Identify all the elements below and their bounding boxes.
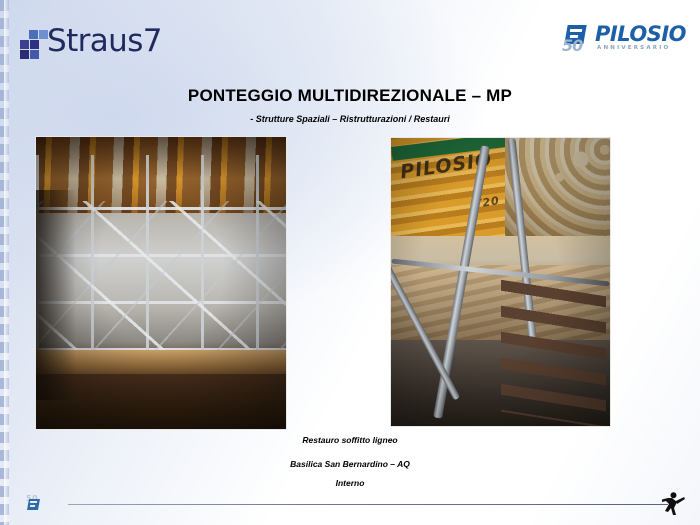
caption-line-3: Interno <box>0 478 700 488</box>
pilosio-logo: 50 PILOSIO ANNIVERSARIO <box>564 24 686 56</box>
filmstrip-inner <box>4 0 9 525</box>
filmstrip-border <box>0 0 9 525</box>
straus7-logo: Straus7 <box>20 26 162 57</box>
slide-canvas: Straus7 50 PILOSIO ANNIVERSARIO PONTEGGI… <box>0 0 700 525</box>
caption-line-2: Basilica San Bernardino – AQ <box>0 459 700 469</box>
scaffolding-photo-right: PILOSIO T20 <box>390 137 611 427</box>
caption-line-1: Restauro soffitto ligneo <box>0 435 700 445</box>
pilosio-anniversary-label: ANNIVERSARIO <box>597 46 686 52</box>
running-man-icon <box>660 490 686 518</box>
photo-left-vignette <box>36 137 286 429</box>
slide-title: PONTEGGIO MULTIDIREZIONALE – MP <box>0 86 700 106</box>
straus7-squares-icon <box>20 28 46 56</box>
slide-subtitle: - Strutture Spaziali – Ristrutturazioni … <box>0 114 700 124</box>
footer-divider <box>68 504 668 505</box>
pilosio-mark-icon: 50 <box>564 25 590 51</box>
photo-right-vignette <box>391 138 610 426</box>
scaffolding-photo-left <box>35 136 287 430</box>
pilosio-anniversary-number: 50 <box>562 36 582 55</box>
straus7-logo-text: Straus7 <box>47 26 162 57</box>
pilosio-small-mark-icon: 50 <box>26 494 44 514</box>
pilosio-logo-text: PILOSIO <box>595 22 686 46</box>
